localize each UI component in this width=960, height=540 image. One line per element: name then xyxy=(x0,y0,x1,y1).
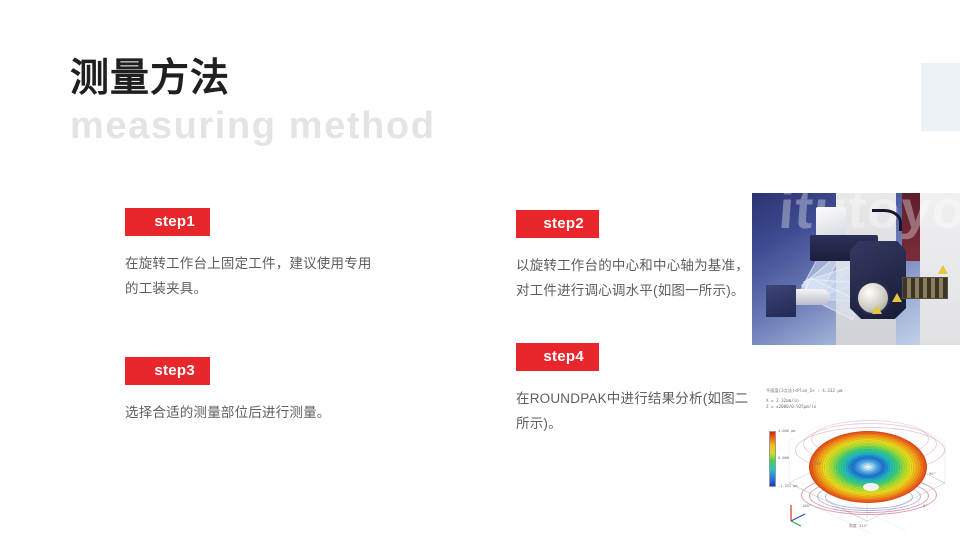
step-text-2: 以旋转工作台的中心和中心轴为基准，对工件进行调心调水平(如图一所示)。 xyxy=(516,253,761,303)
step-text-4: 在ROUNDPAK中进行结果分析(如图二所示)。 xyxy=(516,386,751,436)
photo-linear-rail xyxy=(902,277,948,299)
plot-axis-label-zero: 0° xyxy=(923,503,928,508)
plot-axis-label-right: 90° xyxy=(929,471,936,476)
instrument-photo: itutoyo xyxy=(752,193,960,345)
step-badge-3: step3 xyxy=(125,357,210,385)
warning-triangle-icon xyxy=(892,293,902,302)
corner-decoration-block xyxy=(921,63,960,131)
roundness-surface-plot: 平面度(3点法)<Plan_1> : 4.332 µm X = 2.32mm/i… xyxy=(757,383,960,540)
plot-axis-label-270: 270° xyxy=(813,461,822,466)
plot-axis-label-bottom: 角度 315° xyxy=(849,523,868,529)
step-text-3: 选择合适的测量部位后进行测量。 xyxy=(125,400,375,425)
colorbar-max-label: 4.000 µm xyxy=(778,429,795,433)
step-block-2: step2 以旋转工作台的中心和中心轴为基准，对工件进行调心调水平(如图一所示)… xyxy=(516,210,761,303)
colorbar-mid-label: 0.000 xyxy=(778,456,789,460)
step-block-3: step3 选择合适的测量部位后进行测量。 xyxy=(125,357,375,425)
plot-colorbar xyxy=(769,431,776,487)
step-badge-4: step4 xyxy=(516,343,599,371)
step-badge-1: step1 xyxy=(125,208,210,236)
step-block-4: step4 在ROUNDPAK中进行结果分析(如图二所示)。 xyxy=(516,343,751,436)
plot-surface-bowl xyxy=(809,431,927,503)
plot-axes-indicator-icon xyxy=(785,501,811,527)
photo-probe-block xyxy=(766,285,796,317)
plot-scale-x: X = 2.32mm/in xyxy=(766,398,799,403)
page-subtitle: measuring method xyxy=(70,105,436,149)
page-title: 测量方法 xyxy=(70,57,436,101)
page-heading: 测量方法 measuring method xyxy=(70,57,436,148)
plot-title: 平面度(3点法)<Plan_1> : 4.332 µm xyxy=(766,388,842,394)
step-block-1: step1 在旋转工作台上固定工件，建议使用专用的工装夹具。 xyxy=(125,208,375,301)
warning-triangle-icon xyxy=(872,305,882,314)
step-badge-2: step2 xyxy=(516,210,599,238)
plot-scale-z: Z = ±2000/0.925µm/in xyxy=(766,404,816,409)
step-text-1: 在旋转工作台上固定工件，建议使用专用的工装夹具。 xyxy=(125,251,375,301)
colorbar-min-label: -1.331 µm xyxy=(778,484,797,488)
warning-triangle-icon xyxy=(938,265,948,274)
